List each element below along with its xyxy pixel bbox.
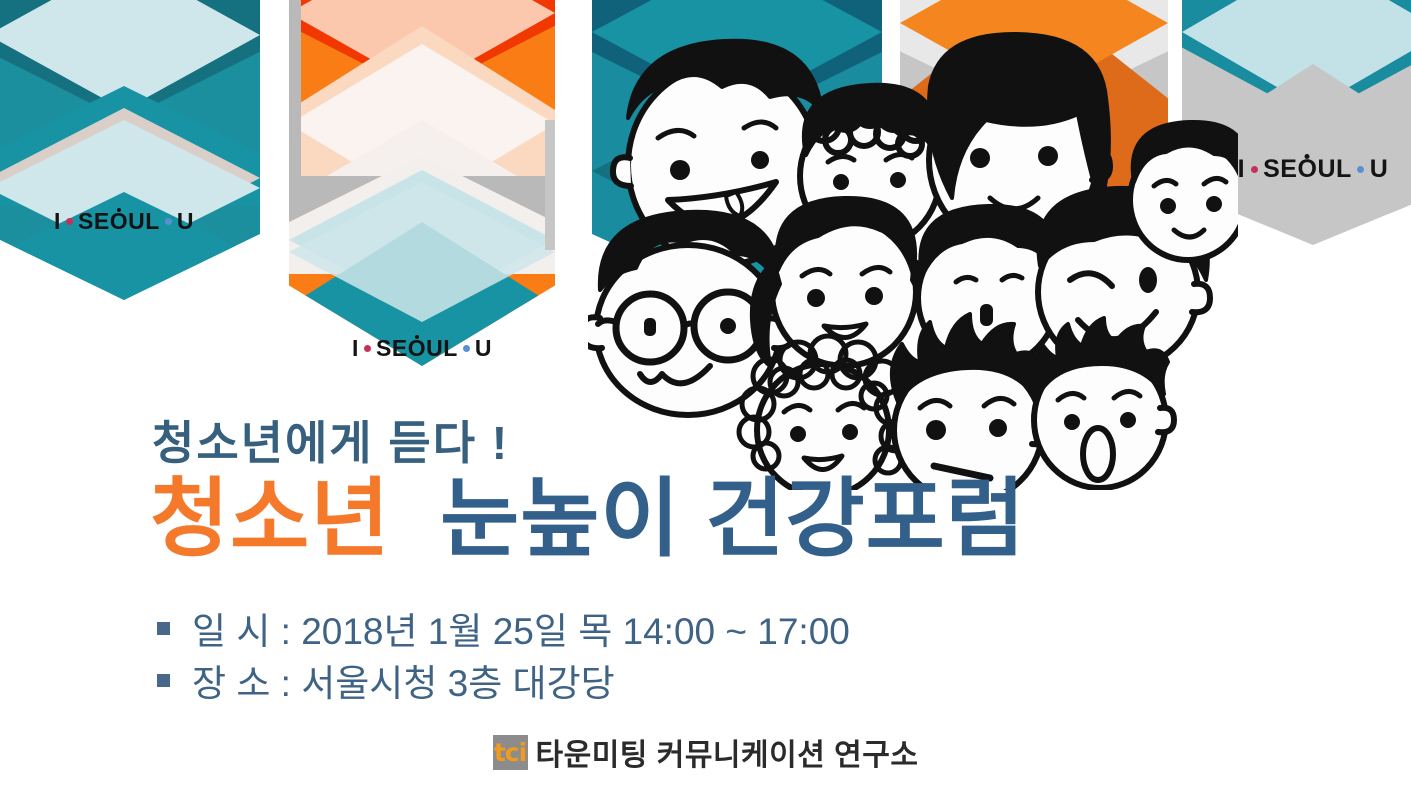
wordmark-u: U — [1370, 157, 1389, 182]
poster-kicker: 청소년에게 듣다 ! — [152, 407, 509, 473]
event-poster: I SE O UL U — [0, 0, 1411, 794]
wordmark-u: U — [475, 337, 492, 360]
detail-text: 일 시 : 2018년 1월 25일 목 14:00 ~ 17:00 — [192, 601, 850, 655]
tci-logo-icon: tci — [493, 735, 528, 770]
wordmark-o: O — [1297, 157, 1317, 182]
organization-name: 타운미팅 커뮤니케이션 연구소 — [536, 730, 919, 774]
bullet-marker — [157, 622, 170, 635]
bullet-marker — [157, 674, 170, 687]
wordmark-dot-red — [66, 218, 73, 225]
wordmark-dot-blue — [463, 345, 470, 352]
wordmark-o: O — [408, 337, 426, 360]
title-highlight: 청소년 — [150, 471, 390, 567]
footer-organization: tci 타운미팅 커뮤니케이션 연구소 — [0, 730, 1411, 774]
detail-text: 장 소 : 서울시청 3층 대강당 — [192, 653, 615, 707]
wordmark-ul: UL — [1317, 157, 1351, 182]
youth-faces-illustration — [588, 30, 1238, 490]
wordmark-dot-red — [364, 345, 371, 352]
seoul-wordmark: I SE O UL U — [289, 337, 555, 360]
detail-line-venue: 장 소 : 서울시청 3층 대강당 — [157, 653, 615, 707]
wordmark-o-accent — [415, 335, 419, 339]
wordmark-ul: UL — [426, 337, 458, 360]
wordmark-se: SE — [1263, 157, 1297, 182]
wordmark-i: I — [352, 337, 359, 360]
detail-line-datetime: 일 시 : 2018년 1월 25일 목 14:00 ~ 17:00 — [157, 601, 850, 655]
banner-column-teal: I SE O UL U — [0, 0, 260, 300]
wordmark-o-letter: O — [1297, 155, 1317, 183]
wordmark-ul: UL — [128, 210, 160, 233]
wordmark-dot-red — [1251, 166, 1258, 173]
wordmark-se: SE — [78, 210, 110, 233]
wordmark-o-accent — [117, 208, 121, 212]
wordmark-u: U — [177, 210, 194, 233]
wordmark-dot-blue — [165, 218, 172, 225]
wordmark-i: I — [1238, 157, 1245, 182]
wordmark-i: I — [54, 210, 61, 233]
face-partial-kid — [1130, 122, 1238, 260]
seoul-wordmark: I SE O UL U — [0, 210, 260, 233]
wordmark-se: SE — [376, 337, 408, 360]
banner-column-orange: I SE O UL U — [289, 0, 555, 366]
wordmark-dot-blue — [1357, 166, 1364, 173]
wordmark-o: O — [110, 210, 128, 233]
wordmark-o-accent — [1305, 154, 1310, 159]
